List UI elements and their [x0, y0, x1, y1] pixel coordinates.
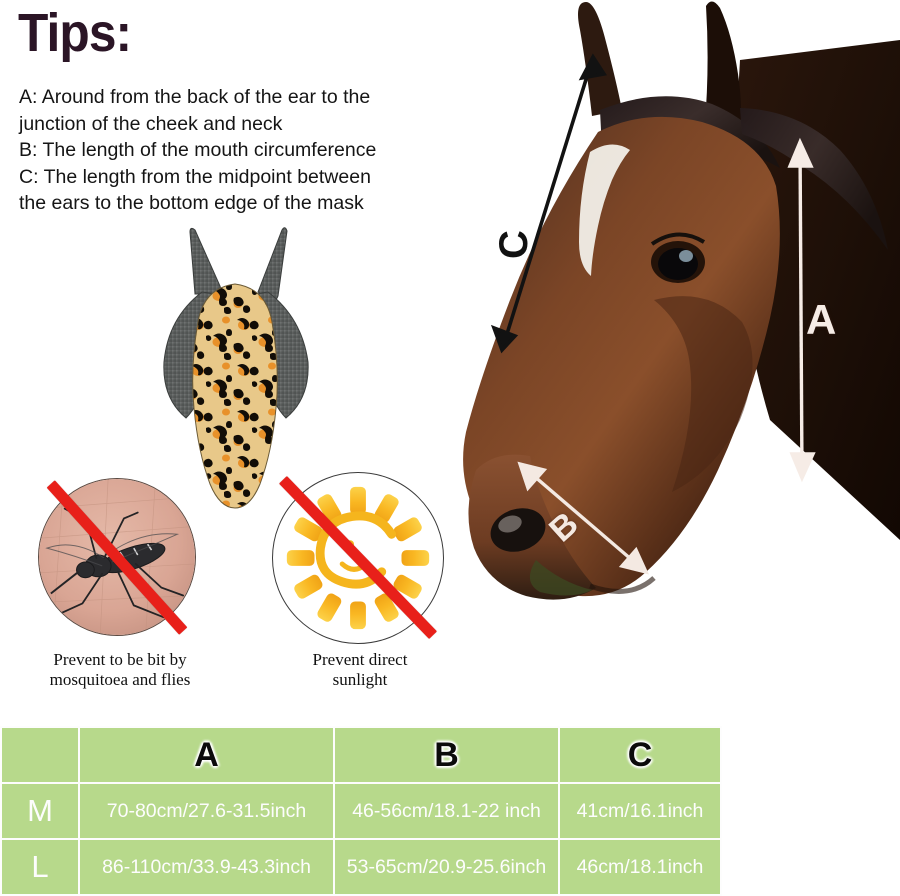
tips-line: junction of the cheek and neck [19, 111, 444, 138]
mask-leopard-panel [193, 284, 278, 508]
caption-line: Prevent direct [270, 650, 450, 670]
cell-c: 46cm/18.1inch [559, 839, 721, 895]
tips-line: B: The length of the mouth circumference [19, 137, 444, 164]
caption-mosquito: Prevent to be bit by mosquitoea and flie… [20, 650, 220, 690]
caption-line: mosquitoea and flies [20, 670, 220, 690]
horse-head-photo [440, 0, 900, 700]
tips-line: the ears to the bottom edge of the mask [19, 190, 444, 217]
caption-line: Prevent to be bit by [20, 650, 220, 670]
cell-b: 53-65cm/20.9-25.6inch [334, 839, 559, 895]
size-chart-table: A B C M 70-80cm/27.6-31.5inch 46-56cm/18… [0, 726, 722, 896]
table-header-b: B [334, 727, 559, 783]
feature-mosquito [38, 478, 196, 636]
cell-size: M [1, 783, 79, 839]
caption-line: sunlight [270, 670, 450, 690]
tips-description: A: Around from the back of the ear to th… [19, 84, 444, 217]
feature-sunlight [272, 472, 444, 644]
cell-a: 70-80cm/27.6-31.5inch [79, 783, 334, 839]
table-header-c: C [559, 727, 721, 783]
mask-ear-right [258, 228, 287, 301]
mask-ear-left [190, 228, 221, 294]
table-header-a: A [79, 727, 334, 783]
fly-mask-graphic [140, 222, 330, 512]
table-row: L 86-110cm/33.9-43.3inch 53-65cm/20.9-25… [1, 839, 721, 895]
tips-line: C: The length from the midpoint between [19, 164, 444, 191]
cell-c: 41cm/16.1inch [559, 783, 721, 839]
caption-sunlight: Prevent direct sunlight [270, 650, 450, 690]
cell-b: 46-56cm/18.1-22 inch [334, 783, 559, 839]
cell-a: 86-110cm/33.9-43.3inch [79, 839, 334, 895]
tips-line: A: Around from the back of the ear to th… [19, 84, 444, 111]
fly-mask-illustration [140, 222, 330, 512]
table-header-size [1, 727, 79, 783]
cell-size: L [1, 839, 79, 895]
horse-graphic [440, 0, 900, 700]
table-row: M 70-80cm/27.6-31.5inch 46-56cm/18.1-22 … [1, 783, 721, 839]
page-title: Tips: [18, 6, 131, 60]
horse-ear-left [578, 2, 622, 116]
table-header-row: A B C [1, 727, 721, 783]
